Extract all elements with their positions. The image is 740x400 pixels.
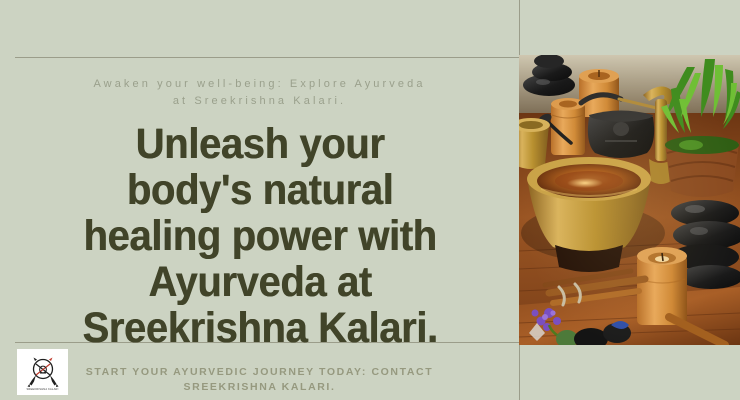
photo-illustration [519, 55, 740, 345]
logo-box[interactable]: SREEKRISHNA KALARI [17, 349, 68, 395]
ayurveda-spa-photo [519, 55, 740, 345]
divider-right-top [519, 0, 520, 56]
page-title: Unleash your body's natural healing powe… [74, 121, 446, 351]
logo-caption: SREEKRISHNA KALARI [17, 388, 68, 391]
logo-mark-icon [23, 354, 63, 390]
eyebrow-text: Awaken your well-being: Explore Ayurveda… [60, 76, 460, 110]
divider-right-bottom [519, 345, 520, 400]
call-to-action-text: Start your ayurvedic journey today: cont… [80, 365, 440, 395]
text-column: Awaken your well-being: Explore Ayurveda… [0, 58, 519, 342]
promo-banner: Awaken your well-being: Explore Ayurveda… [0, 0, 740, 400]
